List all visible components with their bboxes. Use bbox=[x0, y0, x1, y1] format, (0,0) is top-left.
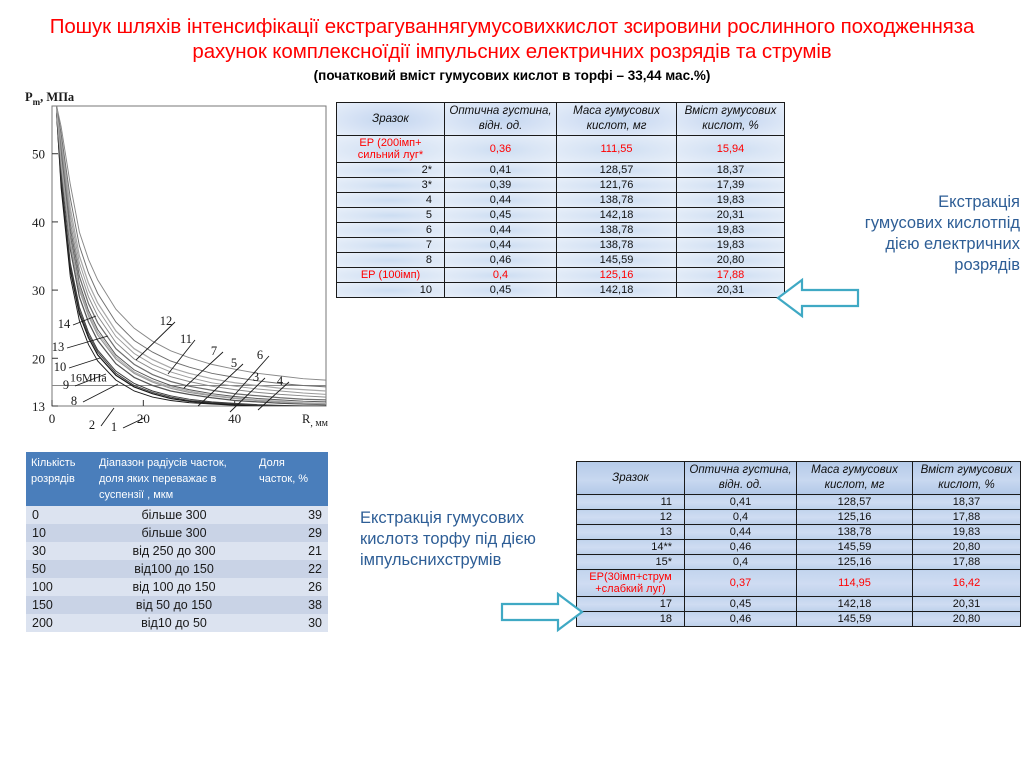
table-cell: 0,36 bbox=[445, 136, 557, 163]
svg-text:3: 3 bbox=[253, 370, 259, 384]
table-cell: 145,59 bbox=[557, 253, 677, 268]
table-row: 50,45142,1820,31 bbox=[337, 208, 785, 223]
table-cell: 29 bbox=[254, 524, 328, 542]
table-row: 120,4125,1617,88 bbox=[577, 510, 1021, 525]
table-cell: 11 bbox=[577, 495, 685, 510]
table-cell: 18 bbox=[577, 612, 685, 627]
table-cell: 30 bbox=[26, 542, 94, 560]
table-cell: 50 bbox=[26, 560, 94, 578]
table-cell: 125,16 bbox=[797, 555, 913, 570]
table-row: 70,44138,7819,83 bbox=[337, 238, 785, 253]
callout-discharge-extraction: Екстракція гумусових кислотпід дією елек… bbox=[860, 192, 1020, 276]
table-cell: 19,83 bbox=[677, 193, 785, 208]
table-row: 200від10 до 5030 bbox=[26, 614, 328, 632]
table-row: 30від 250 до 30021 bbox=[26, 542, 328, 560]
table-cell: 20,31 bbox=[913, 597, 1021, 612]
table-cell: 20,31 bbox=[677, 283, 785, 298]
table-cell: 138,78 bbox=[557, 238, 677, 253]
col-header-discharge-count: Кількість розрядів bbox=[26, 452, 94, 506]
table-cell: 20,80 bbox=[677, 253, 785, 268]
callout-current-extraction: Екстракція гумусових кислотз торфу під д… bbox=[360, 508, 570, 571]
table-header-row: Зразок Оптична густина, відн. од. Маса г… bbox=[577, 462, 1021, 495]
slide-canvas: Пошук шляхів інтенсифікації екстрагуванн… bbox=[0, 0, 1024, 768]
table-cell: 20,80 bbox=[913, 540, 1021, 555]
table-cell: 142,18 bbox=[797, 597, 913, 612]
table-cell: 138,78 bbox=[557, 223, 677, 238]
table-row: 100,45142,1820,31 bbox=[337, 283, 785, 298]
table-cell: від 250 до 300 bbox=[94, 542, 254, 560]
table-cell: 0,4 bbox=[685, 510, 797, 525]
table-row: 130,44138,7819,83 bbox=[577, 525, 1021, 540]
table-row: 50від100 до 15022 bbox=[26, 560, 328, 578]
svg-text:40: 40 bbox=[228, 411, 241, 426]
table-cell: 0,46 bbox=[685, 540, 797, 555]
table-cell: 5 bbox=[337, 208, 445, 223]
table-cell: 114,95 bbox=[797, 570, 913, 597]
svg-text:30: 30 bbox=[32, 283, 45, 298]
table-cell: 19,83 bbox=[913, 525, 1021, 540]
table-cell: 16,42 bbox=[913, 570, 1021, 597]
table-cell: 111,55 bbox=[557, 136, 677, 163]
table-cell: 0,44 bbox=[445, 223, 557, 238]
table-row: 15*0,4125,1617,88 bbox=[577, 555, 1021, 570]
table-cell: 200 bbox=[26, 614, 94, 632]
table-cell: 142,18 bbox=[557, 283, 677, 298]
table-row: 3*0,39121,7617,39 bbox=[337, 178, 785, 193]
svg-text:11: 11 bbox=[180, 332, 192, 346]
table-cell: 18,37 bbox=[677, 163, 785, 178]
table-cell: 0 bbox=[26, 506, 94, 524]
table-cell: 17,88 bbox=[913, 555, 1021, 570]
table-row: 150від 50 до 15038 bbox=[26, 596, 328, 614]
table-cell: 4 bbox=[337, 193, 445, 208]
table-cell: 121,76 bbox=[557, 178, 677, 193]
table-cell: 145,59 bbox=[797, 612, 913, 627]
col-header-sample: Зразок bbox=[337, 103, 445, 136]
table-cell: 100 bbox=[26, 578, 94, 596]
table-cell: 10 bbox=[26, 524, 94, 542]
chart-svg: 132030405002040Pm, МПаR, мм16МПа14131098… bbox=[8, 88, 338, 443]
table-cell: 6 bbox=[337, 223, 445, 238]
col-header-sample: Зразок bbox=[577, 462, 685, 495]
svg-text:7: 7 bbox=[211, 344, 217, 358]
table-header-row: Зразок Оптична густина, відн. од. Маса г… bbox=[337, 103, 785, 136]
table-cell: 12 bbox=[577, 510, 685, 525]
pressure-radius-chart: 132030405002040Pm, МПаR, мм16МПа14131098… bbox=[8, 88, 338, 443]
table-cell: 0,45 bbox=[445, 283, 557, 298]
table-cell: 15,94 bbox=[677, 136, 785, 163]
svg-text:2: 2 bbox=[89, 418, 95, 432]
table-cell: 8 bbox=[337, 253, 445, 268]
table-cell: 19,83 bbox=[677, 223, 785, 238]
table-cell: від 50 до 150 bbox=[94, 596, 254, 614]
table-cell: 39 bbox=[254, 506, 328, 524]
table-cell: 15* bbox=[577, 555, 685, 570]
svg-text:6: 6 bbox=[257, 348, 263, 362]
table-cell: 0,46 bbox=[445, 253, 557, 268]
table-cell: 13 bbox=[577, 525, 685, 540]
table-cell: 142,18 bbox=[557, 208, 677, 223]
particle-table-body: 0більше 3003910більше 3002930від 250 до … bbox=[26, 506, 328, 632]
table-row: 2*0,41128,5718,37 bbox=[337, 163, 785, 178]
table-cell: більше 300 bbox=[94, 506, 254, 524]
svg-text:16МПа: 16МПа bbox=[70, 371, 107, 385]
table-cell: 0,41 bbox=[685, 495, 797, 510]
table-cell: 145,59 bbox=[797, 540, 913, 555]
svg-text:R, мм: R, мм bbox=[302, 412, 329, 429]
table-cell: 26 bbox=[254, 578, 328, 596]
svg-text:10: 10 bbox=[54, 360, 67, 374]
table-cell: 20,80 bbox=[913, 612, 1021, 627]
table-cell: 128,57 bbox=[797, 495, 913, 510]
table-row: 40,44138,7819,83 bbox=[337, 193, 785, 208]
samples-table-2: Зразок Оптична густина, відн. од. Маса г… bbox=[576, 461, 1021, 627]
svg-text:40: 40 bbox=[32, 215, 45, 230]
svg-text:0: 0 bbox=[49, 411, 56, 426]
col-header-acid-content: Вміст гумусових кислот, % bbox=[677, 103, 785, 136]
table-cell: 0,44 bbox=[445, 193, 557, 208]
table-cell: 17,39 bbox=[677, 178, 785, 193]
svg-text:1: 1 bbox=[111, 420, 117, 434]
table-cell: 0,4 bbox=[685, 555, 797, 570]
table-cell: 0,45 bbox=[685, 597, 797, 612]
table-row: 10більше 30029 bbox=[26, 524, 328, 542]
svg-text:8: 8 bbox=[71, 394, 77, 408]
table-row: ЕР (200імп+ сильний луг*0,36111,5515,94 bbox=[337, 136, 785, 163]
table-header-row: Кількість розрядів Діапазон радіусів час… bbox=[26, 452, 328, 506]
particle-distribution-table: Кількість розрядів Діапазон радіусів час… bbox=[26, 452, 328, 632]
table-cell: від 100 до 150 bbox=[94, 578, 254, 596]
table-cell: 0,41 bbox=[445, 163, 557, 178]
table-cell: 138,78 bbox=[557, 193, 677, 208]
table-cell: ЕР(30імп+струм +слабкий луг) bbox=[577, 570, 685, 597]
svg-text:4: 4 bbox=[277, 374, 284, 388]
col-header-optical-density: Оптична густина, відн. од. bbox=[445, 103, 557, 136]
left-arrow-icon bbox=[776, 276, 860, 320]
table-row: 14**0,46145,5920,80 bbox=[577, 540, 1021, 555]
table-cell: 30 bbox=[254, 614, 328, 632]
table-row: 100від 100 до 15026 bbox=[26, 578, 328, 596]
table-row: 60,44138,7819,83 bbox=[337, 223, 785, 238]
samples-table-1: Зразок Оптична густина, відн. од. Маса г… bbox=[336, 102, 785, 298]
col-header-radius-range: Діапазон радіусів часток, доля яких пере… bbox=[94, 452, 254, 506]
table-cell: 125,16 bbox=[557, 268, 677, 283]
table-cell: 20,31 bbox=[677, 208, 785, 223]
table-row: 0більше 30039 bbox=[26, 506, 328, 524]
svg-text:9: 9 bbox=[63, 378, 69, 392]
title-line-1: Пошук шляхів інтенсифікації екстрагуванн… bbox=[8, 14, 1016, 39]
col-header-acid-mass: Маса гумусових кислот, мг bbox=[557, 103, 677, 136]
table-cell: 128,57 bbox=[557, 163, 677, 178]
table-cell: 0,46 bbox=[685, 612, 797, 627]
table-cell: 17,88 bbox=[677, 268, 785, 283]
col-header-particle-share: Доля часток, % bbox=[254, 452, 328, 506]
table-cell: 0,37 bbox=[685, 570, 797, 597]
table-cell: 0,45 bbox=[445, 208, 557, 223]
table-cell: 22 bbox=[254, 560, 328, 578]
table-cell: 125,16 bbox=[797, 510, 913, 525]
table-cell: 14** bbox=[577, 540, 685, 555]
table-row: 110,41128,5718,37 bbox=[577, 495, 1021, 510]
svg-text:12: 12 bbox=[160, 314, 173, 328]
svg-text:13: 13 bbox=[32, 399, 45, 414]
title-line-2: рахунок комплексноїдії імпульсних електр… bbox=[8, 39, 1016, 64]
table-cell: 10 bbox=[337, 283, 445, 298]
svg-text:5: 5 bbox=[231, 356, 237, 370]
table-cell: від100 до 150 bbox=[94, 560, 254, 578]
svg-text:20: 20 bbox=[32, 351, 45, 366]
right-arrow-icon bbox=[500, 590, 584, 634]
svg-text:Pm, МПа: Pm, МПа bbox=[25, 90, 75, 107]
svg-text:50: 50 bbox=[32, 147, 45, 162]
table-cell: 7 bbox=[337, 238, 445, 253]
table-cell: 138,78 bbox=[797, 525, 913, 540]
page-subtitle: (початковий вміст гумусових кислот в тор… bbox=[8, 68, 1016, 83]
table-cell: 150 bbox=[26, 596, 94, 614]
table-row: ЕР(30імп+струм +слабкий луг)0,37114,9516… bbox=[577, 570, 1021, 597]
samples-table-1-body: ЕР (200імп+ сильний луг*0,36111,5515,942… bbox=[337, 136, 785, 298]
table-cell: 0,4 bbox=[445, 268, 557, 283]
table-cell: 18,37 bbox=[913, 495, 1021, 510]
col-header-acid-content: Вміст гумусових кислот, % bbox=[913, 462, 1021, 495]
table-row: 80,46145,5920,80 bbox=[337, 253, 785, 268]
table-cell: більше 300 bbox=[94, 524, 254, 542]
table-cell: 2* bbox=[337, 163, 445, 178]
table-row: 170,45142,1820,31 bbox=[577, 597, 1021, 612]
table-cell: 17 bbox=[577, 597, 685, 612]
table-cell: 3* bbox=[337, 178, 445, 193]
table-cell: 21 bbox=[254, 542, 328, 560]
table-cell: 19,83 bbox=[677, 238, 785, 253]
table-cell: від10 до 50 bbox=[94, 614, 254, 632]
table-cell: ЕР (100імп) bbox=[337, 268, 445, 283]
svg-text:14: 14 bbox=[58, 317, 71, 331]
table-cell: 38 bbox=[254, 596, 328, 614]
col-header-acid-mass: Маса гумусових кислот, мг bbox=[797, 462, 913, 495]
samples-table-2-body: 110,41128,5718,37120,4125,1617,88130,441… bbox=[577, 495, 1021, 627]
table-cell: 17,88 bbox=[913, 510, 1021, 525]
svg-text:13: 13 bbox=[52, 340, 65, 354]
table-cell: ЕР (200імп+ сильний луг* bbox=[337, 136, 445, 163]
col-header-optical-density: Оптична густина, відн. од. bbox=[685, 462, 797, 495]
page-title: Пошук шляхів інтенсифікації екстрагуванн… bbox=[8, 14, 1016, 64]
table-row: 180,46145,5920,80 bbox=[577, 612, 1021, 627]
table-cell: 0,44 bbox=[445, 238, 557, 253]
table-row: ЕР (100імп)0,4125,1617,88 bbox=[337, 268, 785, 283]
table-cell: 0,39 bbox=[445, 178, 557, 193]
table-cell: 0,44 bbox=[685, 525, 797, 540]
